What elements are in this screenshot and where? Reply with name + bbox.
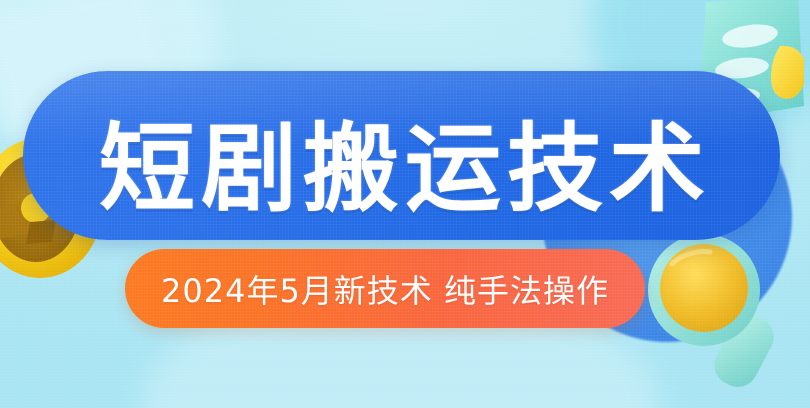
magnifier-icon bbox=[642, 228, 792, 400]
page-title: 短剧搬运技术 bbox=[0, 108, 810, 230]
poster-canvas: 短剧搬运技术 2024年5月新技术 纯手法操作 bbox=[0, 0, 810, 408]
page-subtitle: 2024年5月新技术 纯手法操作 bbox=[125, 249, 645, 328]
